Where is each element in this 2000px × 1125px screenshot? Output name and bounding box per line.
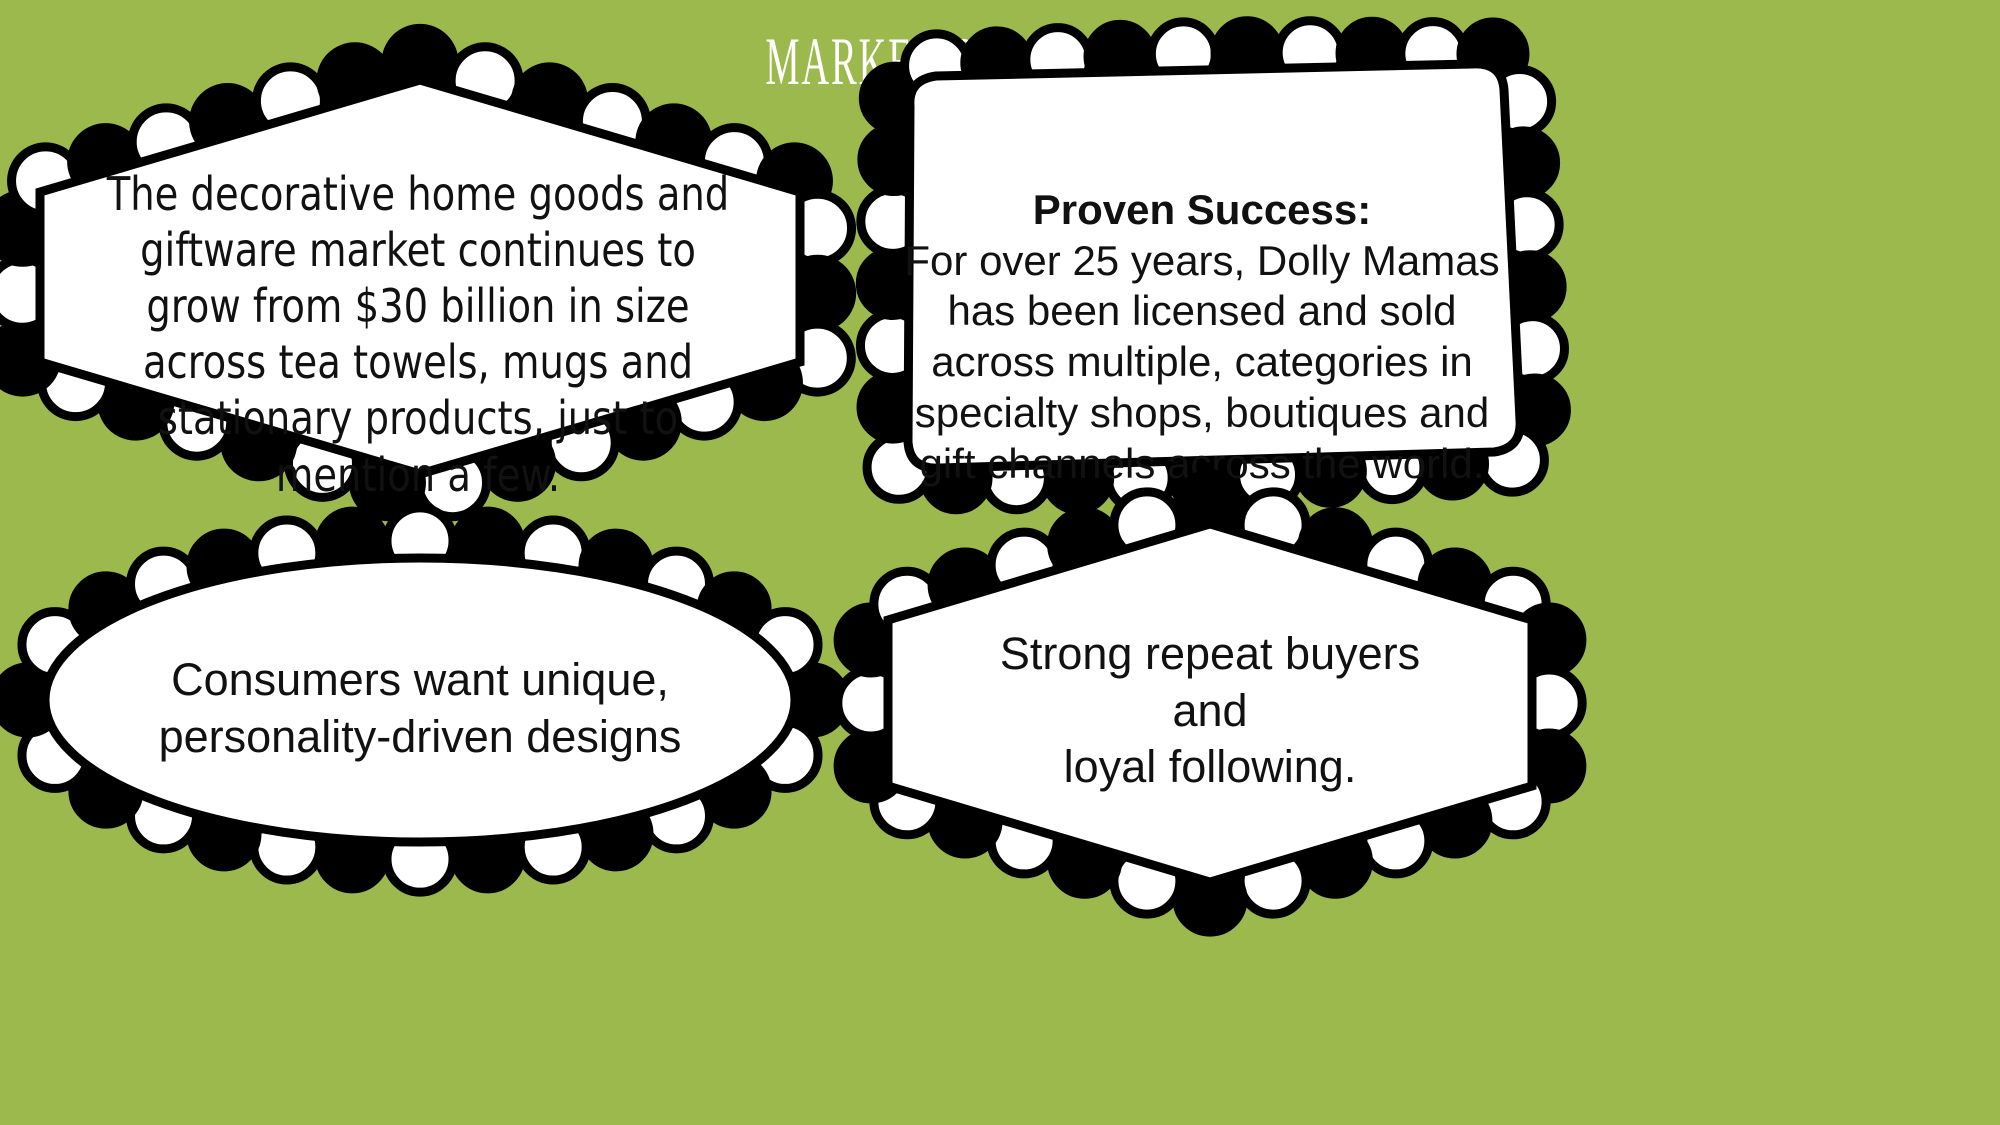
slide-canvas: MARKET OPPORTUNITY The decorative home g… <box>0 0 2000 1125</box>
card-consumer-demand[interactable]: Consumers want unique, personality-drive… <box>10 520 830 880</box>
card-consumer-demand-text: Consumers want unique, personality-drive… <box>70 652 770 765</box>
card-market-growth[interactable]: The decorative home goods and giftware m… <box>10 62 830 482</box>
card-proven-success-heading: Proven Success: <box>902 185 1502 236</box>
card-repeat-buyers[interactable]: Strong repeat buyers and loyal following… <box>860 508 1560 898</box>
card-proven-success-body: For over 25 years, Dolly Mamas has been … <box>904 237 1499 487</box>
card-market-growth-text: The decorative home goods and giftware m… <box>93 166 744 503</box>
card-proven-success[interactable]: Proven Success:For over 25 years, Dolly … <box>860 48 1540 488</box>
card-proven-success-text: Proven Success:For over 25 years, Dolly … <box>902 134 1502 490</box>
card-repeat-buyers-text: Strong repeat buyers and loyal following… <box>920 626 1500 796</box>
